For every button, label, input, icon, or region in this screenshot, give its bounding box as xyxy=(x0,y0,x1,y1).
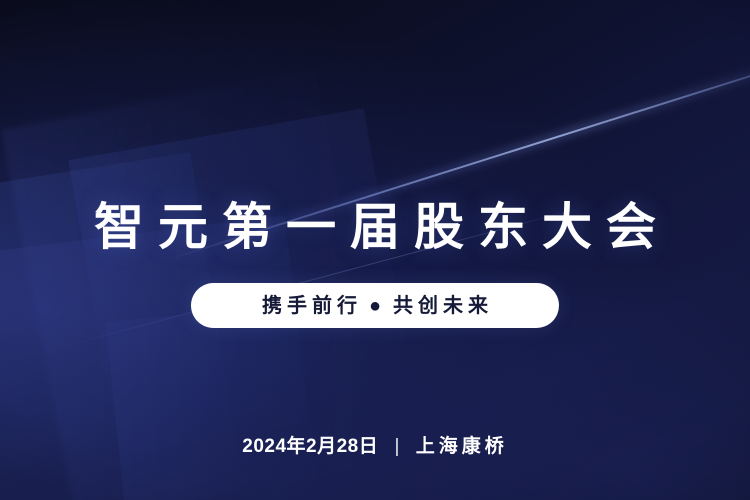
footer-separator: | xyxy=(395,434,400,460)
slogan-dot-icon: ● xyxy=(364,296,386,316)
slogan-text-left: 携手前行 xyxy=(257,296,362,316)
slogan-text-right: 共创未来 xyxy=(388,296,493,316)
event-date: 2024年2月28日 xyxy=(242,436,378,457)
slogan-pill: 携手前行 ● 共创未来 xyxy=(191,283,559,328)
banner-content: 智元第一届股东大会 携手前行 ● 共创未来 2024年2月28日 | 上海康桥 xyxy=(0,0,750,500)
banner-footer: 2024年2月28日 | 上海康桥 xyxy=(0,434,750,460)
banner-title: 智元第一届股东大会 xyxy=(0,196,750,258)
event-banner: 智元第一届股东大会 携手前行 ● 共创未来 2024年2月28日 | 上海康桥 xyxy=(0,0,750,500)
event-location: 上海康桥 xyxy=(416,436,508,457)
